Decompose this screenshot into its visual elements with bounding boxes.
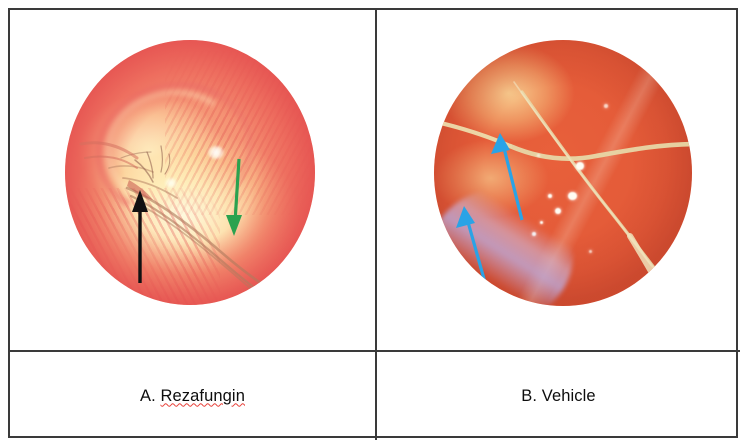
fundus-image-rezafungin bbox=[65, 40, 315, 305]
figure-root: A. Rezafungin B. Vehicle bbox=[0, 0, 750, 445]
panel-b-caption-term: Vehicle bbox=[542, 387, 596, 405]
panel-b-caption-cell: B. Vehicle bbox=[377, 352, 740, 440]
panel-a-caption: A. Rezafungin bbox=[140, 387, 245, 406]
figure-table: A. Rezafungin B. Vehicle bbox=[8, 8, 738, 438]
white-dot-lesion bbox=[568, 192, 577, 200]
panel-a-caption-cell: A. Rezafungin bbox=[10, 352, 375, 440]
panel-a-caption-prefix: A. bbox=[140, 387, 156, 405]
specular-highlight-secondary bbox=[165, 178, 177, 188]
panel-b-caption: B. Vehicle bbox=[521, 387, 595, 406]
specular-highlight-primary bbox=[208, 146, 224, 159]
panel-a-image-cell bbox=[10, 10, 375, 350]
panel-a-caption-term: Rezafungin bbox=[161, 387, 245, 405]
fundus-image-vehicle bbox=[434, 40, 692, 306]
panel-b-caption-prefix: B. bbox=[521, 387, 537, 405]
white-dot-lesion bbox=[548, 194, 552, 198]
retinal-vessel-tree bbox=[65, 40, 315, 305]
white-dot-lesion bbox=[589, 250, 592, 253]
panel-b-image-cell bbox=[377, 10, 740, 350]
